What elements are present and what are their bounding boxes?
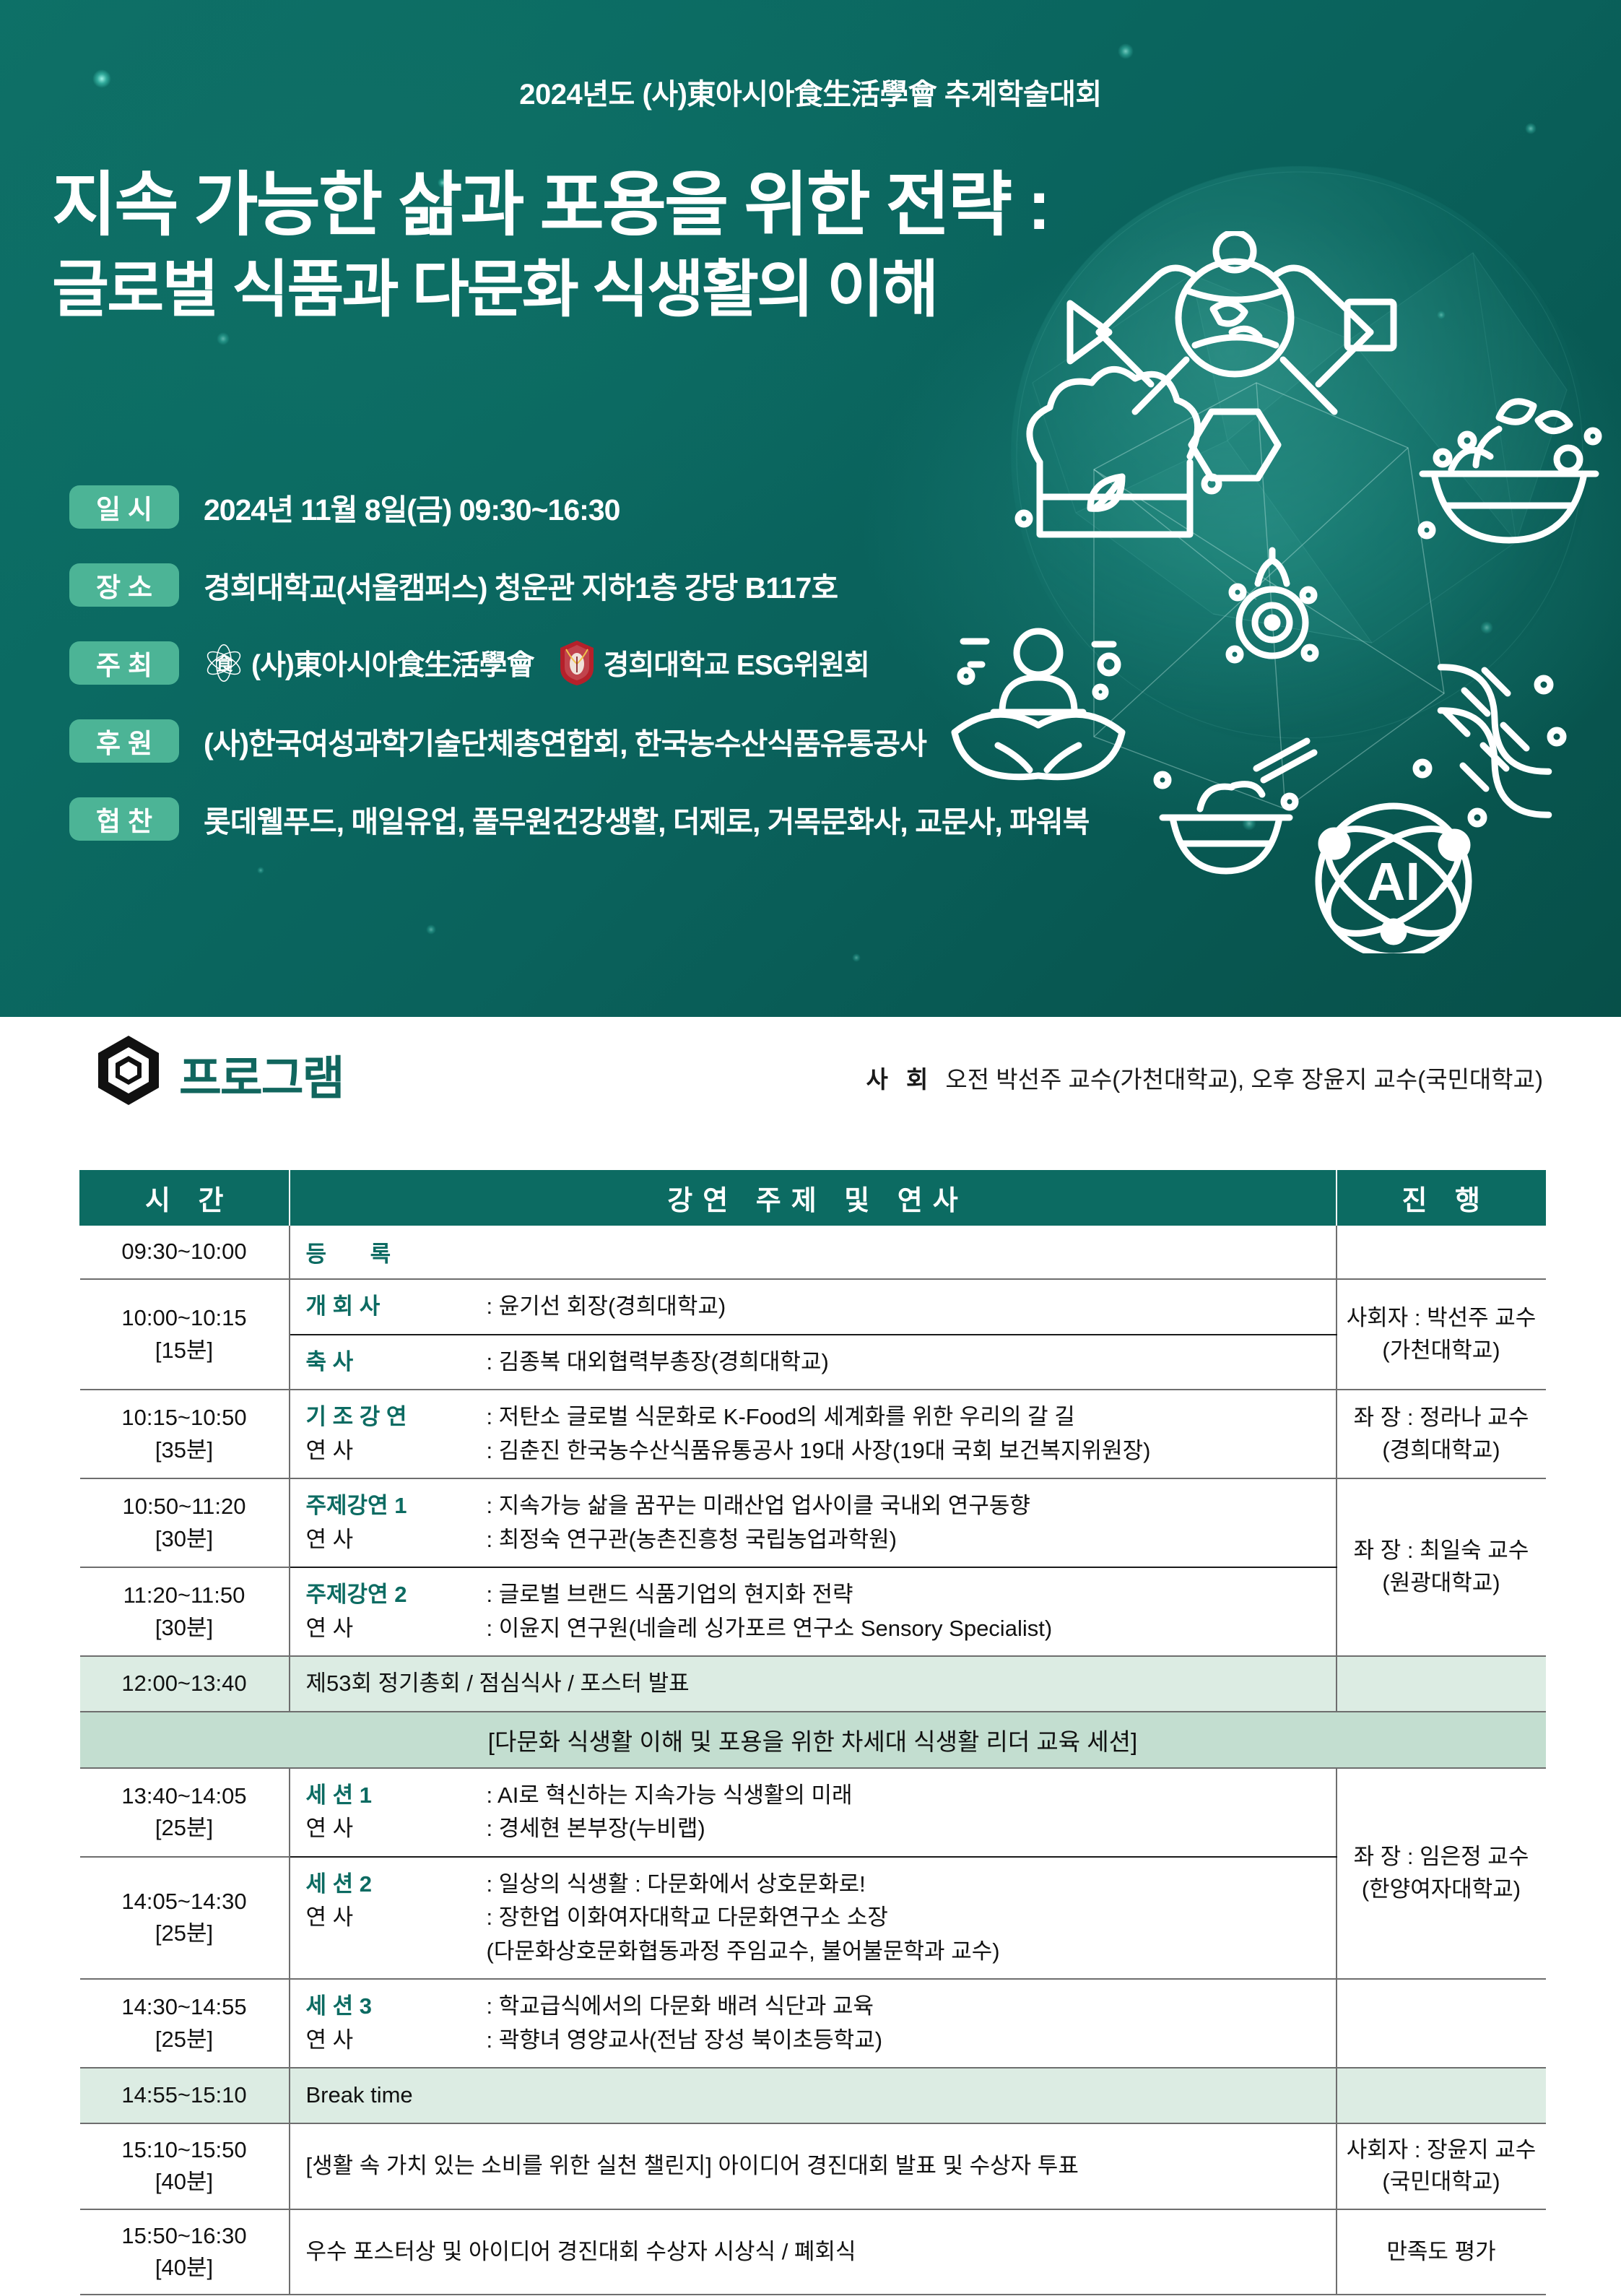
cell-time: 14:55~15:10 xyxy=(80,2068,290,2123)
organizer-name-2: 경희대학교 ESG위원회 xyxy=(604,643,869,683)
cell-time: 10:50~11:20 [30분] xyxy=(80,1478,290,1567)
table-row: 09:30~10:00 등 록 xyxy=(80,1226,1546,1280)
cell-time: 12:00~13:40 xyxy=(80,1656,290,1712)
time-duration: [15분] xyxy=(87,1335,282,1366)
info-badge-support: 후원 xyxy=(69,719,179,763)
cell-host: 좌 장 : 정라나 교수 (경희대학교) xyxy=(1337,1390,1546,1478)
row-label: 축 사 xyxy=(306,1346,487,1379)
time-duration: [25분] xyxy=(87,2024,282,2055)
cell-topic: 축 사 : 김종복 대외협력부총장(경희대학교) xyxy=(290,1335,1337,1390)
cell-host xyxy=(1337,1226,1546,1280)
ai-atom-label: AI xyxy=(1367,852,1420,911)
program-title: 프로그램 xyxy=(179,1041,344,1108)
moderator-label: 사 회 xyxy=(866,1066,934,1093)
row-title: : 글로벌 브랜드 식품기업의 현지화 전략 xyxy=(487,1578,1329,1612)
row-title: : AI로 혁신하는 지속가능 식생활의 미래 xyxy=(487,1779,1329,1813)
speaker-label: 연 사 xyxy=(306,2024,487,2058)
schedule-table-body: 09:30~10:00 등 록 10:00~10:15 [15분] 개 회 사 … xyxy=(80,1226,1546,2295)
speaker-label: 연 사 xyxy=(306,1612,487,1646)
time-range: 10:50~11:20 xyxy=(123,1494,246,1519)
table-row: 13:40~14:05 [25분] 세 션 1 : AI로 혁신하는 지속가능 … xyxy=(80,1768,1546,1857)
cell-time: 09:30~10:00 xyxy=(80,1226,290,1280)
info-row-sponsor: 협찬 롯데웰푸드, 매일유업, 풀무원건강생활, 더제로, 거목문화사, 교문사… xyxy=(69,794,1152,844)
cell-host: 만족도 평가 xyxy=(1337,2209,1546,2295)
info-badge-venue: 장소 xyxy=(69,563,179,607)
cell-time: 14:05~14:30 [25분] xyxy=(80,1857,290,1980)
time-range: 14:05~14:30 xyxy=(121,1889,246,1914)
info-row-support: 후원 (사)한국여성과학기술단체총연합회, 한국농수산식품유통공사 xyxy=(69,716,1152,766)
globe-diversity-icon xyxy=(1070,233,1394,478)
table-header-row: 시 간 강연 주제 및 연사 진 행 xyxy=(80,1171,1546,1226)
info-value-venue: 경희대학교(서울캠퍼스) 청운관 지하1층 강당 B117호 xyxy=(204,563,838,607)
cell-topic: 주제강연 2 : 글로벌 브랜드 식품기업의 현지화 전략 연 사 : 이윤지 … xyxy=(290,1567,1337,1656)
cell-host: 사회자 : 장윤지 교수 (국민대학교) xyxy=(1337,2123,1546,2210)
speaker-label: 연 사 xyxy=(306,1812,487,1846)
moderator-line: 사 회오전 박선주 교수(가천대학교), 오후 장윤지 교수(국민대학교) xyxy=(866,1060,1544,1095)
info-badge-organizer: 주최 xyxy=(69,641,179,685)
cell-topic: 세 션 2 : 일상의 식생활 : 다문화에서 상호문화로! 연 사 : 장한업… xyxy=(290,1857,1337,1980)
speaker-text: : 이윤지 연구원(네슬레 싱가포르 연구소 Sensory Specialis… xyxy=(487,1612,1329,1646)
cell-topic: 우수 포스터상 및 아이디어 경진대회 수상자 시상식 / 폐회식 xyxy=(290,2209,1337,2295)
cell-time: 15:10~15:50 [40분] xyxy=(80,2123,290,2210)
row-label: 우수 포스터상 및 아이디어 경진대회 수상자 시상식 / 폐회식 xyxy=(306,2239,856,2264)
khu-crest-logo-icon xyxy=(557,639,596,687)
time-duration: [25분] xyxy=(87,1812,282,1844)
cell-topic: 주제강연 1 : 지속가능 삶을 꿈꾸는 미래산업 업사이클 국내외 연구동향 … xyxy=(290,1478,1337,1567)
cell-time: 10:00~10:15 [15분] xyxy=(80,1279,290,1390)
cell-time: 13:40~14:05 [25분] xyxy=(80,1768,290,1857)
noodle-bowl-icon xyxy=(1157,741,1314,871)
schedule-table: 시 간 강연 주제 및 연사 진 행 09:30~10:00 등 록 10:00… xyxy=(79,1170,1546,2295)
speaker-text: : 김춘진 한국농수산식품유통공사 19대 사장(19대 국회 보건복지위원장) xyxy=(487,1434,1329,1468)
info-value-support: (사)한국여성과학기술단체총연합회, 한국농수산식품유통공사 xyxy=(204,719,926,763)
organizer-name-1: (사)東아시아食生活學會 xyxy=(251,643,534,683)
table-row: 14:30~14:55 [25분] 세 션 3 : 학교급식에서의 다문화 배려… xyxy=(80,1979,1546,2068)
cell-topic: 세 션 3 : 학교급식에서의 다문화 배려 식단과 교육 연 사 : 곽향녀 … xyxy=(290,1979,1337,2068)
moderator-value: 오전 박선주 교수(가천대학교), 오후 장윤지 교수(국민대학교) xyxy=(945,1066,1543,1093)
cell-host xyxy=(1337,1979,1546,2068)
table-row: 10:50~11:20 [30분] 주제강연 1 : 지속가능 삶을 꿈꾸는 미… xyxy=(80,1478,1546,1567)
cell-host xyxy=(1337,1656,1546,1712)
row-title: : 학교급식에서의 다문화 배려 식단과 교육 xyxy=(487,1990,1329,2024)
table-row: [다문화 식생활 이해 및 포용을 위한 차세대 식생활 리더 교육 세션] xyxy=(80,1712,1546,1768)
cell-host: 사회자 : 박선주 교수 (가천대학교) xyxy=(1337,1279,1546,1390)
table-row: 15:50~16:30 [40분] 우수 포스터상 및 아이디어 경진대회 수상… xyxy=(80,2209,1546,2295)
row-label: 세 션 3 xyxy=(306,1990,487,2024)
cell-topic: 개 회 사 : 윤기선 회장(경희대학교) xyxy=(290,1279,1337,1335)
cell-time: 11:20~11:50 [30분] xyxy=(80,1567,290,1656)
cell-topic: 등 록 xyxy=(290,1226,1337,1280)
row-title: : 지속가능 삶을 꿈꾸는 미래산업 업사이클 국내외 연구동향 xyxy=(487,1489,1329,1523)
time-duration: [35분] xyxy=(87,1434,282,1466)
time-duration: [40분] xyxy=(87,2252,282,2284)
table-row: 10:00~10:15 [15분] 개 회 사 : 윤기선 회장(경희대학교) … xyxy=(80,1279,1546,1335)
row-label: 기 조 강 연 xyxy=(306,1400,487,1434)
table-row: 축 사 : 김종복 대외협력부총장(경희대학교) xyxy=(80,1335,1546,1390)
session-banner: [다문화 식생활 이해 및 포용을 위한 차세대 식생활 리더 교육 세션] xyxy=(80,1712,1546,1768)
speaker-text: : 최정숙 연구관(농촌진흥청 국립농업과학원) xyxy=(487,1523,1329,1557)
row-label: 세 션 2 xyxy=(306,1868,487,1902)
hexagon-icon xyxy=(95,1034,162,1106)
eas-society-logo-icon: 食 xyxy=(204,643,244,683)
cell-topic: Break time xyxy=(290,2068,1337,2123)
row-label: 세 션 1 xyxy=(306,1779,487,1813)
speaker-label: 연 사 xyxy=(306,1901,487,1935)
info-row-organizer: 주최 食 (사)東아시아食生活學會 xyxy=(69,638,1152,688)
row-title: : 저탄소 글로벌 식문화로 K-Food의 세계화를 위한 우리의 갈 길 xyxy=(487,1400,1329,1434)
row-label: 주제강연 2 xyxy=(306,1578,487,1612)
col-header-topic: 강연 주제 및 연사 xyxy=(290,1171,1337,1226)
time-duration: [25분] xyxy=(87,1918,282,1949)
speaker-label: 연 사 xyxy=(306,1434,487,1468)
info-value-sponsor: 롯데웰푸드, 매일유업, 풀무원건강생활, 더제로, 거목문화사, 교문사, 파… xyxy=(204,797,1089,841)
time-duration: [30분] xyxy=(87,1523,282,1555)
cell-time: 15:50~16:30 [40분] xyxy=(80,2209,290,2295)
cell-topic: 기 조 강 연 : 저탄소 글로벌 식문화로 K-Food의 세계화를 위한 우… xyxy=(290,1390,1337,1478)
time-duration: [40분] xyxy=(87,2166,282,2198)
col-header-time: 시 간 xyxy=(80,1171,290,1226)
speaker-label: 연 사 xyxy=(306,1523,487,1557)
table-row: 12:00~13:40 제53회 정기총회 / 점심식사 / 포스터 발표 xyxy=(80,1656,1546,1712)
time-range: 15:10~15:50 xyxy=(121,2137,246,2162)
info-value-date: 2024년 11월 8일(금) 09:30~16:30 xyxy=(204,485,620,529)
table-row: 10:15~10:50 [35분] 기 조 강 연 : 저탄소 글로벌 식문화로… xyxy=(80,1390,1546,1478)
time-range: 14:30~14:55 xyxy=(121,1994,246,2019)
row-label: 제53회 정기총회 / 점심식사 / 포스터 발표 xyxy=(306,1671,690,1696)
cell-topic: 제53회 정기총회 / 점심식사 / 포스터 발표 xyxy=(290,1656,1337,1712)
row-text: : 윤기선 회장(경희대학교) xyxy=(487,1290,1329,1324)
col-header-host: 진 행 xyxy=(1337,1171,1546,1226)
speaker-text: : 장한업 이화여자대학교 다문화연구소 소장 xyxy=(487,1901,1329,1935)
program-section: 프로그램 사 회오전 박선주 교수(가천대학교), 오후 장윤지 교수(국민대학… xyxy=(0,1017,1621,1118)
row-label: Break time xyxy=(306,2082,413,2107)
event-info-list: 일시 2024년 11월 8일(금) 09:30~16:30 장소 경희대학교(… xyxy=(69,482,1152,872)
row-label: 개 회 사 xyxy=(306,1290,487,1324)
cell-topic: [생활 속 가치 있는 소비를 위한 실천 챌린지] 아이디어 경진대회 발표 … xyxy=(290,2123,1337,2210)
program-header: 프로그램 사 회오전 박선주 교수(가천대학교), 오후 장윤지 교수(국민대학… xyxy=(0,1017,1621,1118)
time-range: 15:50~16:30 xyxy=(121,2223,246,2248)
row-title: : 일상의 식생활 : 다문화에서 상호문화로! xyxy=(487,1868,1329,1902)
info-row-date: 일시 2024년 11월 8일(금) 09:30~16:30 xyxy=(69,482,1152,532)
row-label: [생활 속 가치 있는 소비를 위한 실천 챌린지] 아이디어 경진대회 발표 … xyxy=(306,2153,1079,2178)
row-text: : 김종복 대외협력부총장(경희대학교) xyxy=(487,1346,1329,1379)
speaker-text: : 곽향녀 영양교사(전남 장성 북이초등학교) xyxy=(487,2024,1329,2058)
dna-icon xyxy=(1416,654,1563,828)
info-value-organizer: 食 (사)東아시아食生活學會 경희대학교 ESG위원회 xyxy=(204,639,869,687)
info-badge-date: 일시 xyxy=(69,485,179,529)
cell-host: 좌 장 : 임은정 교수 (한양여자대학교) xyxy=(1337,1768,1546,1980)
table-row: 11:20~11:50 [30분] 주제강연 2 : 글로벌 브랜드 식품기업의… xyxy=(80,1567,1546,1656)
row-label: 등 록 xyxy=(306,1242,410,1267)
time-range: 10:00~10:15 xyxy=(121,1305,246,1330)
info-row-venue: 장소 경희대학교(서울캠퍼스) 청운관 지하1층 강당 B117호 xyxy=(69,560,1152,610)
cell-host xyxy=(1337,2068,1546,2123)
table-row: 15:10~15:50 [40분] [생활 속 가치 있는 소비를 위한 실천 … xyxy=(80,2123,1546,2210)
cell-time: 10:15~10:50 [35분] xyxy=(80,1390,290,1478)
table-row: 14:05~14:30 [25분] 세 션 2 : 일상의 식생활 : 다문화에… xyxy=(80,1857,1546,1980)
speaker-text-line2: (다문화상호문화협동과정 주임교수, 불어불문학과 교수) xyxy=(306,1935,1329,1969)
time-range: 13:40~14:05 xyxy=(121,1783,246,1808)
info-badge-sponsor: 협찬 xyxy=(69,797,179,841)
poster-hero: 2024년도 (사)東아시아食生活學會 추계학술대회 지속 가능한 삶과 포용을… xyxy=(0,0,1621,1017)
cell-time: 14:30~14:55 [25분] xyxy=(80,1979,290,2068)
time-duration: [30분] xyxy=(87,1612,282,1644)
speaker-text: : 경세현 본부장(누비랩) xyxy=(487,1812,1329,1846)
cell-topic: 세 션 1 : AI로 혁신하는 지속가능 식생활의 미래 연 사 : 경세현 … xyxy=(290,1768,1337,1857)
conference-subtitle: 2024년도 (사)東아시아食生活學會 추계학술대회 xyxy=(0,71,1621,113)
row-label: 주제강연 1 xyxy=(306,1489,487,1523)
cell-host: 좌 장 : 최일숙 교수 (원광대학교) xyxy=(1337,1478,1546,1656)
table-row: 14:55~15:10 Break time xyxy=(80,2068,1546,2123)
time-range: 10:15~10:50 xyxy=(121,1405,246,1430)
seed-target-icon xyxy=(1229,550,1316,660)
svg-text:食: 食 xyxy=(215,653,233,674)
time-range: 11:20~11:50 xyxy=(123,1582,245,1608)
salad-bowl-icon xyxy=(1421,402,1599,540)
